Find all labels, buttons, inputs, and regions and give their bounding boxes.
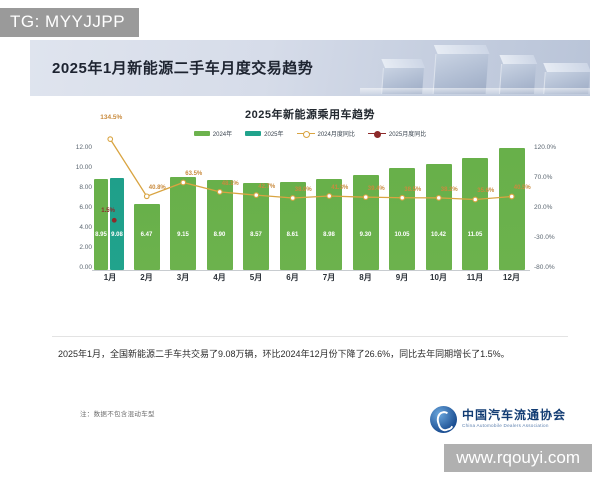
y-axis-right-tick: 20.0% (534, 204, 552, 211)
legend-item-2025: 2025年 (245, 129, 283, 138)
line-marker-2024 (144, 194, 149, 199)
y-axis-right-tick: -30.0% (534, 234, 555, 241)
legend-label: 2024月度同比 (318, 129, 355, 138)
y-axis-right-tick: 70.0% (534, 174, 552, 181)
slide-page: TG: MYYJJPP 2025年1月新能源二手车月度交易趋势 2025年新能源… (0, 0, 600, 480)
line-series-container (92, 148, 530, 270)
y-axis-left-tick: 12.00 (76, 144, 92, 151)
x-axis-tick: 12月 (494, 272, 530, 283)
line-marker-2024 (327, 194, 332, 199)
header-banner: 2025年1月新能源二手车月度交易趋势 (30, 40, 590, 96)
url-watermark: www.rqouyi.com (444, 444, 592, 472)
legend-item-2025-yoy: 2025月度同比 (368, 129, 426, 138)
footnote: 注：数据不包含混动车型 (80, 408, 155, 418)
x-axis-tick: 9月 (384, 272, 420, 283)
page-title: 2025年1月新能源二手车月度交易趋势 (52, 57, 313, 78)
y-axis-right-tick: 120.0% (534, 144, 556, 151)
line-marker-2024 (436, 196, 441, 201)
legend-label: 2024年 (213, 129, 232, 138)
plot-area: 0.00 2.00 4.00 6.00 8.00 10.00 12.00 -80… (30, 148, 590, 288)
legend-swatch-bar-2024 (194, 131, 210, 136)
x-axis-tick: 10月 (421, 272, 457, 283)
chart: 2025年新能源乘用车趋势 2024年 2025年 2024月度同比 (30, 102, 590, 327)
legend-label: 2025月度同比 (389, 129, 426, 138)
cada-logo-icon (430, 406, 457, 433)
legend-item-2024: 2024年 (194, 129, 232, 138)
x-axis-tick: 11月 (457, 272, 493, 283)
y-axis-right-tick: -80.0% (534, 264, 555, 271)
telegram-watermark: TG: MYYJJPP (0, 8, 139, 37)
y-axis-left-tick: 0.00 (79, 264, 92, 271)
y-axis-left-tick: 10.00 (76, 164, 92, 171)
y-axis-left-tick: 4.00 (79, 224, 92, 231)
x-axis-tick: 2月 (129, 272, 165, 283)
y-axis-left: 0.00 2.00 4.00 6.00 8.00 10.00 12.00 (52, 148, 92, 270)
line-marker-2024 (509, 194, 514, 199)
line-marker-2024 (290, 196, 295, 201)
legend-swatch-line-2024 (297, 131, 315, 137)
x-axis-tick: 8月 (348, 272, 384, 283)
line-marker-2024 (181, 180, 186, 185)
line-marker-2025 (112, 218, 117, 223)
y-axis-left-tick: 6.00 (79, 204, 92, 211)
banner-floor-decoration (360, 88, 590, 96)
body-paragraph: 2025年1月，全国新能源二手车共交易了9.08万辆，环比2024年12月份下降… (58, 345, 563, 365)
x-axis: 1月2月3月4月5月6月7月8月9月10月11月12月 (92, 272, 530, 290)
x-axis-tick: 3月 (165, 272, 201, 283)
x-axis-tick: 6月 (275, 272, 311, 283)
slide-content: 2025年1月新能源二手车月度交易趋势 2025年新能源乘用车趋势 2024年 … (30, 40, 590, 450)
x-axis-tick: 5月 (238, 272, 274, 283)
line-marker-2024 (108, 137, 113, 142)
x-axis-tick: 4月 (202, 272, 238, 283)
x-axis-tick: 1月 (92, 272, 128, 283)
line-marker-2024 (217, 190, 222, 195)
legend-item-2024-yoy: 2024月度同比 (297, 129, 355, 138)
line-marker-2024 (400, 195, 405, 200)
chart-legend: 2024年 2025年 2024月度同比 2025月度同比 (30, 129, 590, 138)
legend-label: 2025年 (264, 129, 283, 138)
y-axis-right: -80.0% -30.0% 20.0% 70.0% 120.0% (530, 148, 586, 270)
organization-name-cn: 中国汽车流通协会 (462, 409, 566, 423)
y-axis-left-tick: 8.00 (79, 184, 92, 191)
line-2024-yoy (110, 139, 512, 199)
organization-logo: 中国汽车流通协会 China Automobile Dealers Associ… (430, 403, 585, 435)
line-marker-2024 (254, 193, 259, 198)
line-marker-2024 (363, 195, 368, 200)
y-axis-left-tick: 2.00 (79, 244, 92, 251)
divider (52, 336, 568, 337)
x-axis-tick: 7月 (311, 272, 347, 283)
legend-swatch-bar-2025 (245, 131, 261, 136)
line-marker-2024 (473, 197, 478, 202)
organization-name-en: China Automobile Dealers Association (462, 423, 566, 428)
legend-swatch-line-2025 (368, 131, 386, 137)
chart-title: 2025年新能源乘用车趋势 (30, 106, 590, 122)
